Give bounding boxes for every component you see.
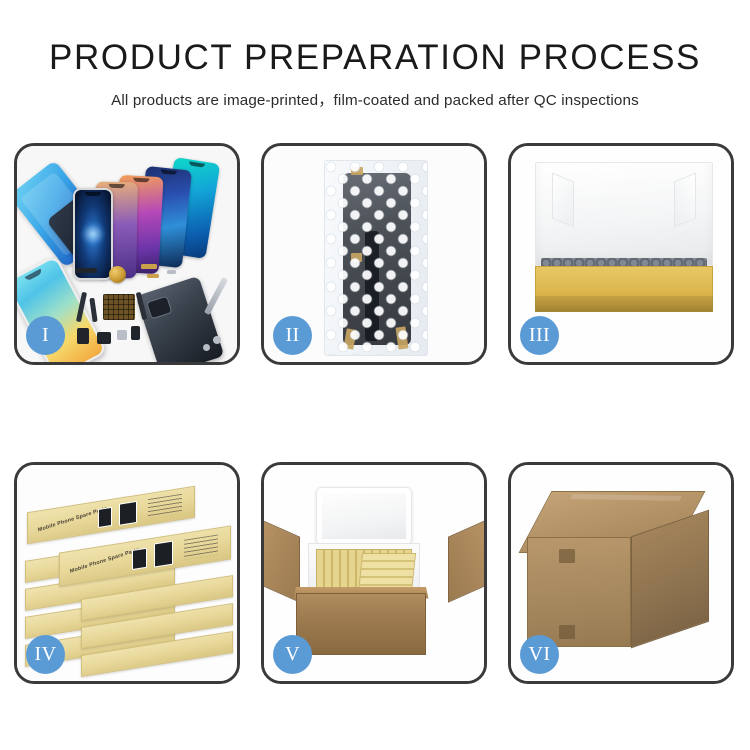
chip-grid-icon — [103, 294, 135, 320]
carton-body-icon — [296, 593, 426, 655]
spare-part-gold-icon — [141, 264, 157, 269]
phone-screen-1-icon — [73, 188, 113, 280]
camera-module-icon — [77, 328, 89, 344]
lid-flap-right-icon — [674, 173, 696, 228]
process-steps-grid: I II — [14, 143, 736, 684]
spare-part-strip-icon — [75, 268, 97, 273]
vibration-motor-icon — [109, 266, 126, 283]
step-badge-1: I — [26, 316, 65, 355]
sim-tray-icon — [117, 330, 127, 340]
step-panel-5: V — [261, 462, 487, 684]
spare-part-gold-2-icon — [147, 274, 159, 278]
box-spec-lines-top-icon — [148, 494, 182, 519]
step-panel-6: VI — [508, 462, 734, 684]
screw-icon — [213, 336, 221, 344]
connector-icon — [131, 326, 140, 340]
box-window-left-icon — [132, 548, 147, 570]
shipping-box-front-icon — [527, 537, 631, 647]
white-box-lid-icon — [535, 162, 713, 266]
box-window-top-left-icon — [98, 507, 112, 528]
screw-2-icon — [203, 344, 210, 351]
shipping-tape-bottom-icon — [559, 625, 575, 639]
foam-lid-icon — [316, 487, 412, 545]
bubble-texture — [325, 161, 427, 355]
page-title: PRODUCT PREPARATION PROCESS — [0, 40, 750, 77]
box-spec-lines-icon — [184, 534, 218, 559]
box-window-top-right-icon — [119, 501, 137, 526]
spare-part-silver-icon — [167, 270, 176, 274]
bubble-wrap-bag-icon — [324, 160, 428, 356]
step-panel-4: Mobile Phone Spare Parts Mobile Phone Sp… — [14, 462, 240, 684]
step-panel-2: II — [261, 143, 487, 365]
step-badge-3: III — [520, 316, 559, 355]
header: PRODUCT PREPARATION PROCESS All products… — [0, 40, 750, 110]
step-badge-4: IV — [26, 635, 65, 674]
step-badge-2: II — [273, 316, 312, 355]
box-window-right-icon — [154, 541, 173, 568]
shipping-tape-top-icon — [559, 549, 575, 563]
step-panel-1: I — [14, 143, 240, 365]
lid-flap-left-icon — [552, 173, 574, 228]
box-front-shadow — [535, 296, 713, 312]
speaker-module-icon — [97, 332, 111, 344]
step-badge-5: V — [273, 635, 312, 674]
step-panel-3: III — [508, 143, 734, 365]
page-subtitle: All products are image-printed，film-coat… — [0, 88, 750, 110]
step-badge-6: VI — [520, 635, 559, 674]
box-label-front: Mobile Phone Spare Parts — [70, 547, 140, 575]
product-preparation-infographic: PRODUCT PREPARATION PROCESS All products… — [0, 0, 750, 750]
